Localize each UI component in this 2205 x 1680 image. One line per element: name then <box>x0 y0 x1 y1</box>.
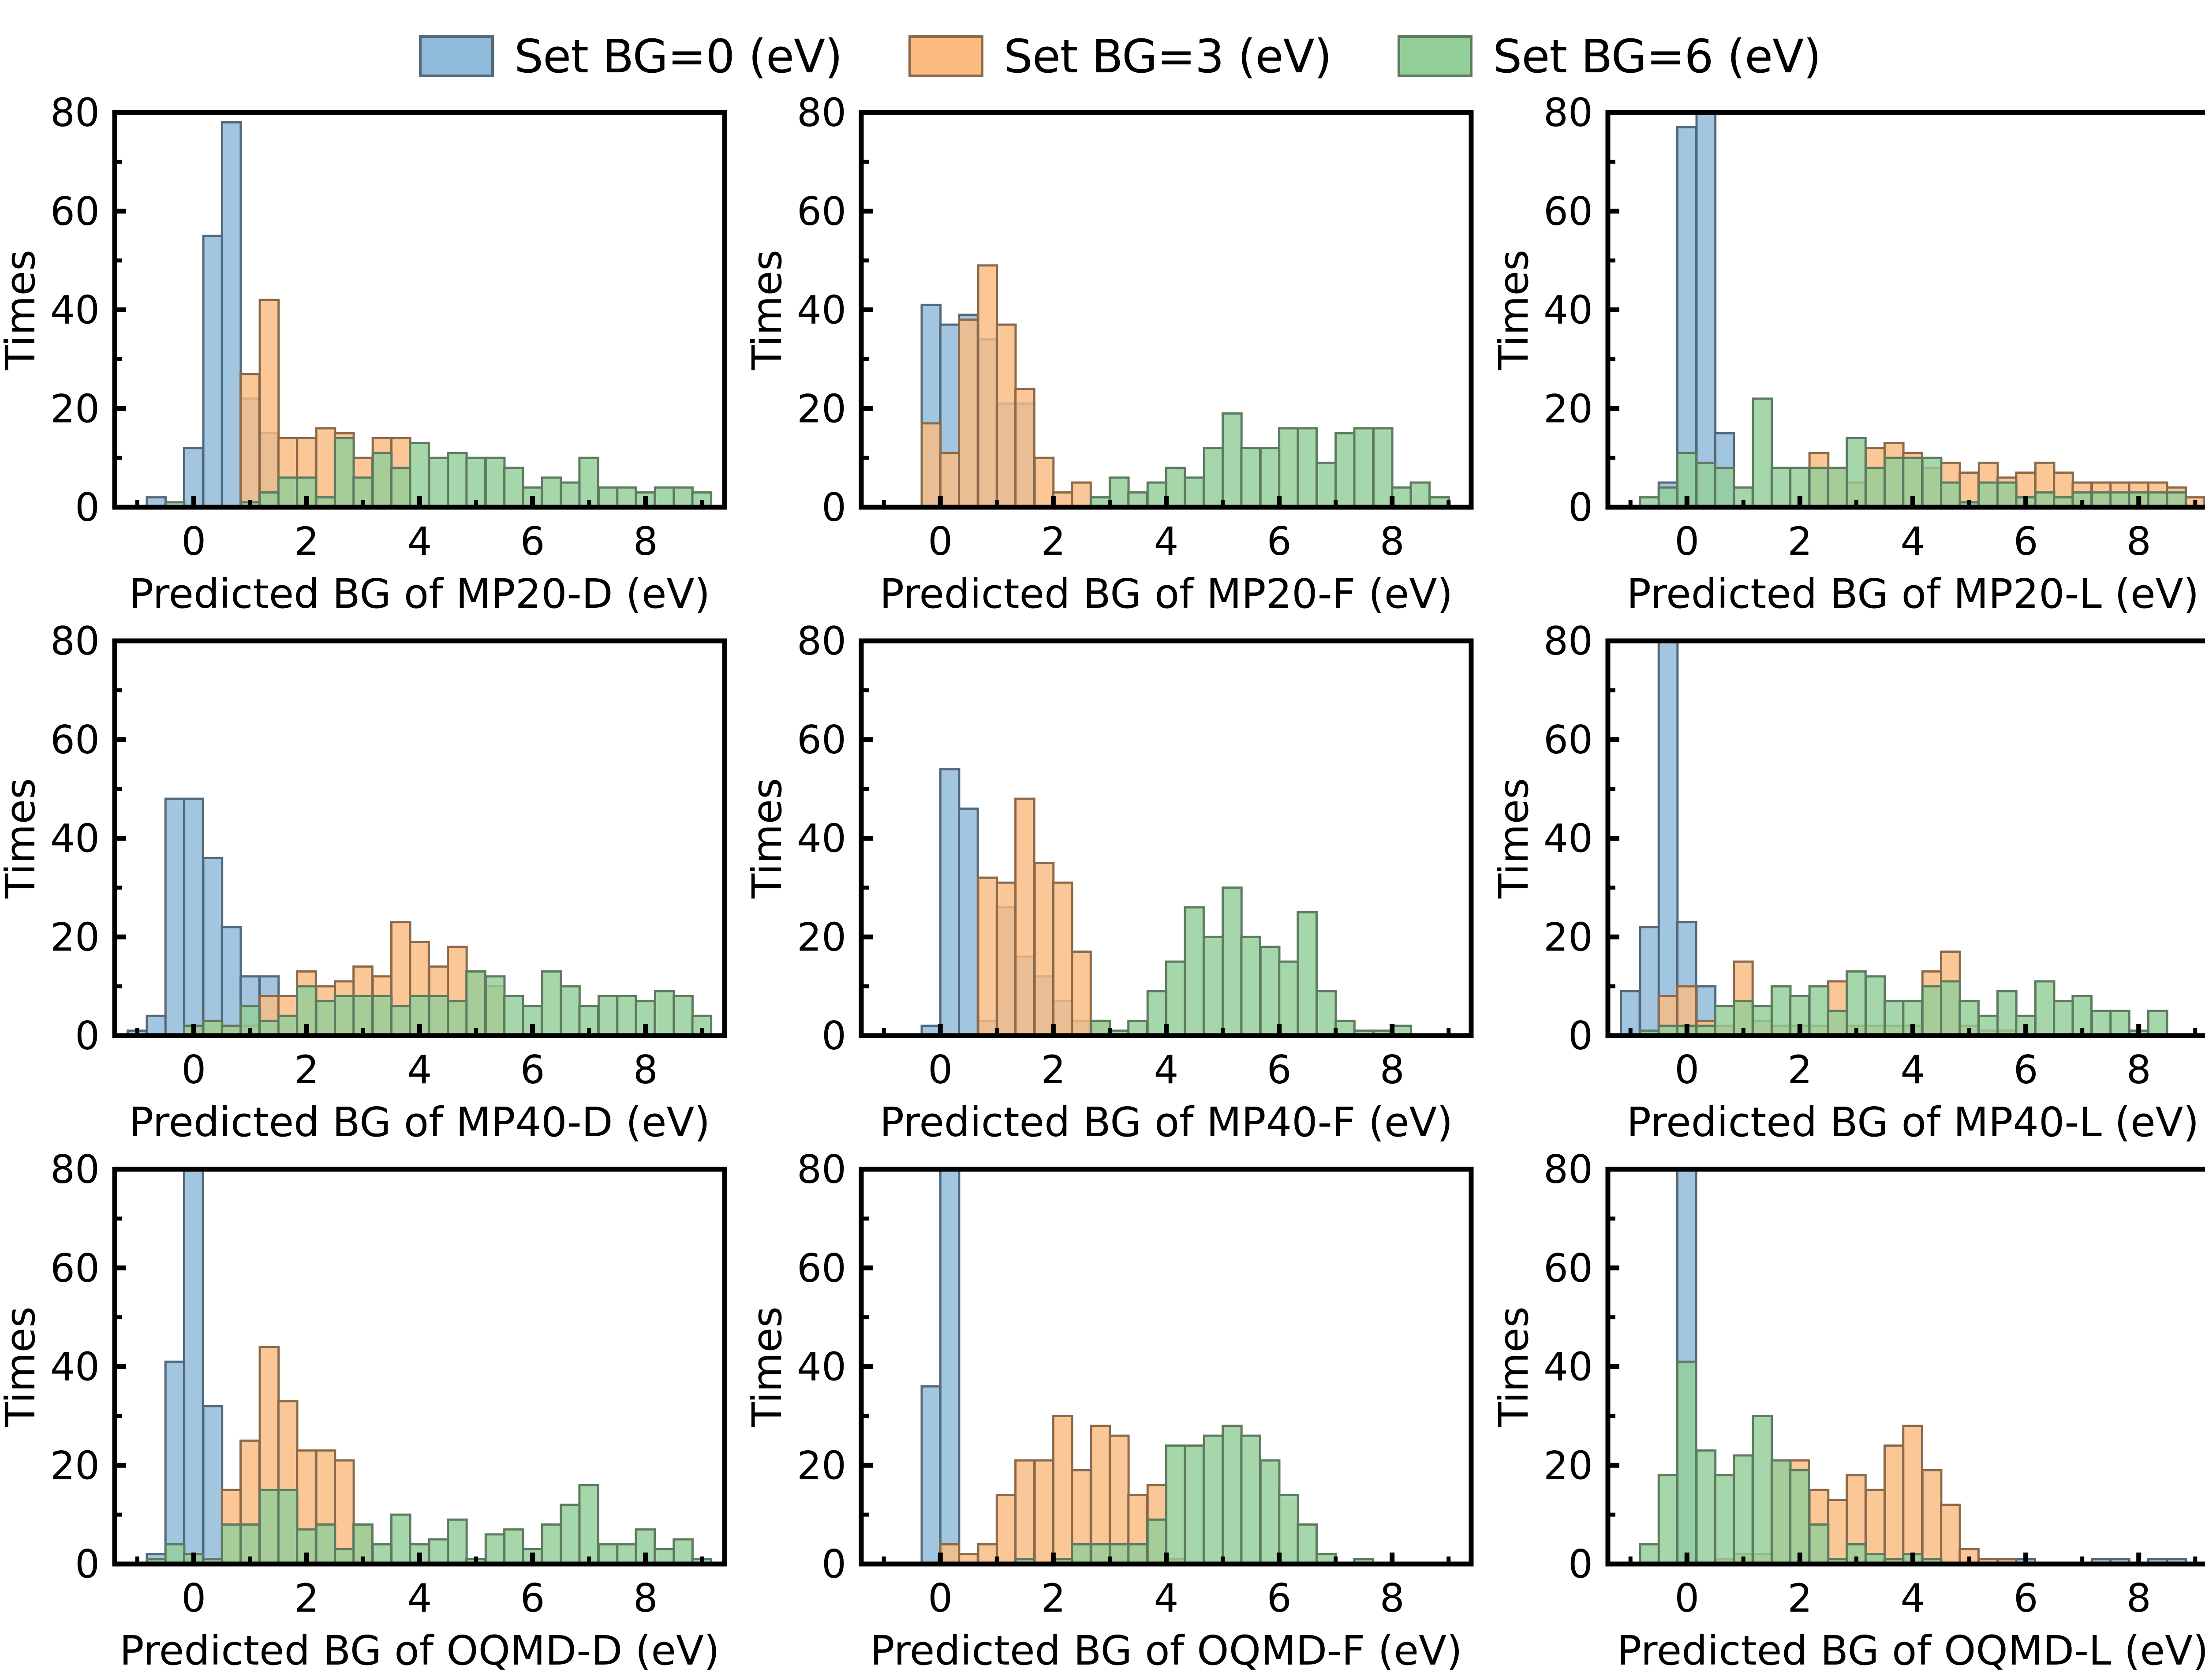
hist-bar <box>1828 468 1847 508</box>
hist-bar <box>505 468 523 508</box>
hist-bar <box>978 878 997 1036</box>
y-axis-label: Times <box>747 778 791 899</box>
y-tick-label: 40 <box>1543 1344 1593 1390</box>
x-axis-label: Predicted BG of MP40-F (eV) <box>880 1099 1453 1146</box>
hist-bar <box>203 1406 222 1564</box>
x-tick-label: 0 <box>181 519 206 564</box>
hist-bar <box>505 1530 523 1564</box>
x-tick-label: 6 <box>520 1575 545 1621</box>
hist-bar <box>2054 1001 2073 1036</box>
hist-bar <box>260 1490 279 1564</box>
x-tick-label: 4 <box>407 1575 432 1621</box>
y-axis-label: Times <box>0 250 44 370</box>
hist-bar <box>617 487 636 507</box>
y-tick-label: 60 <box>50 1246 100 1291</box>
hist-bar <box>1697 1451 1715 1564</box>
hist-bar <box>1866 468 1885 508</box>
hist-bar <box>316 1525 335 1564</box>
x-tick-label: 6 <box>1267 1575 1292 1621</box>
hist-bar <box>1922 1470 1941 1564</box>
hist-bar <box>429 1539 448 1564</box>
x-tick-label: 2 <box>294 1047 319 1093</box>
legend-label-1: Set BG=3 (eV) <box>1004 30 1332 83</box>
hist-bar <box>1317 991 1336 1036</box>
hist-bar <box>997 1495 1016 1564</box>
hist-bar <box>429 458 448 507</box>
hist-bar <box>1884 1001 1903 1036</box>
y-tick-label: 40 <box>50 288 100 333</box>
hist-bar <box>2035 981 2054 1036</box>
hist-bar <box>505 996 523 1036</box>
x-tick-label: 2 <box>1787 1047 1812 1093</box>
hist-bar <box>1678 127 1697 507</box>
hist-bar <box>184 1154 203 1564</box>
hist-bar <box>1166 962 1185 1036</box>
hist-bar <box>1828 1500 1847 1564</box>
hist-bar <box>959 320 978 507</box>
y-tick-label: 60 <box>1543 1246 1593 1291</box>
y-tick-label: 40 <box>50 816 100 861</box>
hist-bar <box>1016 799 1035 1036</box>
hist-bar <box>1298 428 1317 507</box>
y-tick-label: 0 <box>75 1542 100 1587</box>
y-tick-label: 60 <box>797 1246 846 1291</box>
hist-bar <box>1223 413 1242 507</box>
subplot-1: 02040608002468TimesPredicted BG of MP20-… <box>747 95 1493 623</box>
figure-root: Set BG=0 (eV)Set BG=3 (eV)Set BG=6 (eV) … <box>0 0 2205 1680</box>
hist-bar <box>1392 487 1411 507</box>
x-tick-label: 6 <box>520 519 545 564</box>
x-tick-label: 0 <box>1674 1575 1699 1621</box>
hist-bar <box>1016 1460 1035 1564</box>
x-axis-label: Predicted BG of OQMD-F (eV) <box>870 1627 1462 1674</box>
y-tick-label: 60 <box>50 189 100 234</box>
hist-bar <box>542 478 561 507</box>
hist-bar <box>448 453 467 507</box>
hist-bar <box>184 799 203 1036</box>
hist-bar <box>598 1544 617 1564</box>
hist-bar <box>1129 1544 1147 1564</box>
y-axis-label: Times <box>1493 1306 1537 1427</box>
legend-label-2: Set BG=6 (eV) <box>1493 30 1821 83</box>
hist-bar <box>1790 1470 1809 1564</box>
hist-bar <box>1279 428 1298 507</box>
hist-bar <box>1715 1475 1734 1564</box>
hist-bar <box>1317 463 1336 507</box>
hist-bar <box>316 1001 335 1036</box>
y-tick-label: 60 <box>797 717 846 763</box>
hist-bar <box>1260 448 1279 507</box>
hist-bar <box>674 487 693 507</box>
hist-bar <box>1072 483 1091 507</box>
hist-bar <box>1922 986 1941 1036</box>
hist-bar <box>1884 458 1903 507</box>
y-tick-label: 20 <box>50 914 100 960</box>
y-tick-label: 20 <box>50 386 100 431</box>
hist-bar <box>655 487 674 507</box>
hist-bar <box>1771 468 1790 508</box>
x-tick-label: 6 <box>520 1047 545 1093</box>
subplot-7: 02040608002468TimesPredicted BG of OQMD-… <box>747 1152 1493 1680</box>
x-tick-label: 4 <box>407 1047 432 1093</box>
hist-bar <box>1110 1544 1129 1564</box>
x-tick-label: 0 <box>181 1575 206 1621</box>
hist-bar <box>1053 1416 1072 1564</box>
hist-bar <box>978 1544 997 1564</box>
hist-bar <box>2111 1011 2130 1036</box>
hist-bar <box>1828 1011 1847 1036</box>
legend-swatch-orange <box>908 35 983 77</box>
x-tick-label: 6 <box>1267 519 1292 564</box>
hist-bar <box>2092 1011 2111 1036</box>
x-tick-label: 2 <box>1041 519 1065 564</box>
hist-bar <box>1241 1436 1260 1564</box>
hist-bar <box>1072 952 1091 1036</box>
y-tick-label: 40 <box>1543 816 1593 861</box>
legend: Set BG=0 (eV)Set BG=3 (eV)Set BG=6 (eV) <box>0 18 2205 95</box>
x-tick-label: 8 <box>2127 1047 2151 1093</box>
hist-bar <box>959 808 978 1036</box>
hist-bar <box>1166 468 1185 508</box>
y-tick-label: 40 <box>797 288 846 333</box>
x-tick-label: 0 <box>1674 1047 1699 1093</box>
y-tick-label: 20 <box>797 1443 846 1488</box>
x-tick-label: 6 <box>1267 1047 1292 1093</box>
hist-bar <box>1715 468 1734 508</box>
hist-bar <box>617 996 636 1036</box>
hist-bar <box>391 468 410 508</box>
hist-bar <box>1035 458 1054 507</box>
x-axis-label: Predicted BG of OQMD-L (eV) <box>1617 1627 2205 1674</box>
x-tick-label: 8 <box>633 1047 658 1093</box>
hist-bar <box>1035 1460 1054 1564</box>
subplot-grid: 02040608002468TimesPredicted BG of MP20-… <box>0 95 2205 1680</box>
y-tick-label: 40 <box>797 816 846 861</box>
legend-entry-2[interactable]: Set BG=6 (eV) <box>1398 30 1821 83</box>
hist-bar <box>1035 863 1054 1036</box>
hist-bar <box>561 1505 580 1564</box>
hist-bar <box>1336 433 1355 507</box>
hist-bar <box>1373 428 1392 507</box>
y-axis-label: Times <box>747 1306 791 1427</box>
x-tick-label: 8 <box>1380 519 1405 564</box>
x-tick-label: 2 <box>1041 1575 1065 1621</box>
x-tick-label: 2 <box>294 519 319 564</box>
hist-bar <box>922 423 941 507</box>
hist-bar <box>1753 1416 1772 1564</box>
hist-bar <box>448 1001 467 1036</box>
hist-bar <box>1941 1505 1960 1564</box>
y-tick-label: 80 <box>797 623 846 664</box>
y-tick-label: 80 <box>797 95 846 135</box>
y-tick-label: 20 <box>1543 386 1593 431</box>
subplot-0: 02040608002468TimesPredicted BG of MP20-… <box>0 95 747 623</box>
hist-bar <box>260 300 279 507</box>
hist-bar <box>222 1525 241 1564</box>
hist-bar <box>1753 1006 1772 1036</box>
hist-bar <box>1941 483 1960 507</box>
y-tick-label: 0 <box>822 1542 846 1587</box>
hist-bar <box>1185 907 1204 1036</box>
hist-bar <box>1223 1426 1242 1564</box>
y-axis-label: Times <box>0 778 44 899</box>
y-tick-label: 60 <box>797 189 846 234</box>
y-tick-label: 80 <box>1543 1152 1593 1192</box>
hist-bar <box>429 996 448 1036</box>
y-tick-label: 80 <box>50 95 100 135</box>
hist-bar <box>1204 937 1223 1036</box>
x-tick-label: 4 <box>1901 1047 1925 1093</box>
y-tick-label: 20 <box>797 386 846 431</box>
hist-bar <box>391 1006 410 1036</box>
hist-bar <box>1866 977 1885 1036</box>
x-tick-label: 8 <box>633 1575 658 1621</box>
subplot-4: 02040608002468TimesPredicted BG of MP40-… <box>747 623 1493 1152</box>
hist-bar <box>1147 483 1166 507</box>
y-tick-label: 80 <box>797 1152 846 1192</box>
hist-bar <box>561 986 580 1036</box>
hist-bar <box>373 1544 392 1564</box>
y-tick-label: 60 <box>1543 189 1593 234</box>
hist-bar <box>1147 1519 1166 1564</box>
hist-bar <box>1753 399 1772 507</box>
hist-bar <box>1809 986 1828 1036</box>
hist-bar <box>940 769 959 1036</box>
x-tick-label: 4 <box>1154 519 1179 564</box>
y-axis-label: Times <box>1493 778 1537 899</box>
hist-bar <box>486 458 505 507</box>
y-tick-label: 0 <box>1568 1542 1593 1587</box>
hist-bar <box>1979 483 1998 507</box>
hist-bar <box>391 1515 410 1564</box>
hist-bar <box>617 1544 636 1564</box>
x-tick-label: 6 <box>2014 519 2038 564</box>
x-tick-label: 8 <box>1380 1575 1405 1621</box>
hist-bar <box>222 122 241 507</box>
x-tick-label: 8 <box>2127 1575 2151 1621</box>
x-tick-label: 6 <box>2014 1047 2038 1093</box>
hist-bar <box>467 972 486 1036</box>
y-axis-label: Times <box>747 250 791 370</box>
hist-bar <box>373 453 392 507</box>
hist-bar <box>674 996 693 1036</box>
y-axis-label: Times <box>0 1306 44 1427</box>
hist-bar <box>1659 487 1678 507</box>
hist-bar <box>1185 1446 1204 1564</box>
legend-entry-0[interactable]: Set BG=0 (eV) <box>419 30 842 83</box>
hist-bar <box>1847 438 1866 507</box>
hist-bar <box>655 991 674 1036</box>
hist-bar <box>940 453 959 507</box>
hist-bar <box>1260 1460 1279 1564</box>
y-tick-label: 0 <box>822 1013 846 1059</box>
hist-bar <box>1697 463 1715 507</box>
hist-bar <box>997 325 1016 507</box>
hist-bar <box>598 487 617 507</box>
hist-bar <box>542 1525 561 1564</box>
y-tick-label: 0 <box>75 1013 100 1059</box>
hist-bar <box>1771 986 1790 1036</box>
hist-bar <box>940 1544 959 1564</box>
x-tick-label: 0 <box>1674 519 1699 564</box>
y-tick-label: 20 <box>1543 914 1593 960</box>
hist-bar <box>241 374 260 507</box>
hist-bar <box>1998 483 2017 507</box>
x-tick-label: 0 <box>181 1047 206 1093</box>
hist-bar <box>1640 927 1659 1036</box>
hist-bar <box>1884 1446 1903 1564</box>
hist-bar <box>1185 478 1204 507</box>
hist-bar <box>1223 887 1242 1036</box>
hist-bar <box>1354 428 1373 507</box>
hist-bar <box>1847 972 1866 1036</box>
hist-bar <box>316 428 335 507</box>
hist-bar <box>147 1016 166 1036</box>
x-tick-label: 0 <box>928 519 953 564</box>
y-tick-label: 40 <box>50 1344 100 1390</box>
hist-bar <box>1734 1456 1753 1564</box>
hist-bar <box>203 236 222 507</box>
hist-bar <box>1072 1544 1091 1564</box>
y-tick-label: 0 <box>822 485 846 530</box>
hist-bar <box>2148 1011 2167 1036</box>
legend-entry-1[interactable]: Set BG=3 (eV) <box>908 30 1332 83</box>
subplot-2: 02040608002468TimesPredicted BG of MP20-… <box>1493 95 2205 623</box>
hist-bar <box>165 1362 184 1564</box>
hist-bar <box>1809 1525 1828 1564</box>
hist-bar <box>203 858 222 1036</box>
hist-bar <box>997 883 1016 1036</box>
x-tick-label: 0 <box>928 1575 953 1621</box>
subplot-8: 02040608002468TimesPredicted BG of OQMD-… <box>1493 1152 2205 1680</box>
hist-bar <box>1260 947 1279 1036</box>
hist-bar <box>598 996 617 1036</box>
y-tick-label: 0 <box>75 485 100 530</box>
hist-bar <box>1697 97 1715 507</box>
hist-bar <box>1903 1426 1922 1564</box>
hist-bar <box>1091 1544 1110 1564</box>
x-tick-label: 2 <box>1787 1575 1812 1621</box>
hist-bar <box>1204 448 1223 507</box>
y-tick-label: 20 <box>797 914 846 960</box>
hist-bar <box>278 1490 297 1564</box>
hist-bar <box>165 1544 184 1564</box>
subplot-3: 02040608002468TimesPredicted BG of MP40-… <box>0 623 747 1152</box>
x-tick-label: 6 <box>2014 1575 2038 1621</box>
hist-bar <box>922 1386 941 1564</box>
hist-bar <box>335 438 354 507</box>
hist-bar <box>1640 1544 1659 1564</box>
x-axis-label: Predicted BG of MP40-D (eV) <box>129 1099 710 1146</box>
hist-bar <box>1279 962 1298 1036</box>
hist-bar <box>1941 981 1960 1036</box>
hist-bar <box>486 977 505 1036</box>
hist-bar <box>222 927 241 1036</box>
legend-swatch-green <box>1398 35 1472 77</box>
x-tick-label: 2 <box>294 1575 319 1621</box>
x-axis-label: Predicted BG of MP20-F (eV) <box>880 570 1453 617</box>
hist-bar <box>1866 1490 1885 1564</box>
hist-bar <box>165 799 184 1036</box>
hist-bar <box>1922 458 1941 507</box>
hist-bar <box>1298 1525 1317 1564</box>
hist-bar <box>1678 1362 1697 1564</box>
y-tick-label: 40 <box>797 1344 846 1390</box>
hist-bar <box>1979 1016 1998 1036</box>
hist-bar <box>1998 991 2017 1036</box>
hist-bar <box>1241 937 1260 1036</box>
hist-bar <box>561 483 580 507</box>
x-tick-label: 0 <box>928 1047 953 1093</box>
hist-bar <box>1771 1460 1790 1564</box>
hist-bar <box>1659 1475 1678 1564</box>
subplot-6: 02040608002468TimesPredicted BG of OQMD-… <box>0 1152 747 1680</box>
legend-label-0: Set BG=0 (eV) <box>514 30 842 83</box>
x-tick-label: 2 <box>1787 519 1812 564</box>
subplot-5: 02040608002468TimesPredicted BG of MP40-… <box>1493 623 2205 1152</box>
hist-bar <box>373 996 392 1036</box>
hist-bar <box>448 1519 467 1564</box>
x-axis-label: Predicted BG of MP40-L (eV) <box>1626 1099 2199 1146</box>
hist-bar <box>278 1016 297 1036</box>
hist-bar <box>278 478 297 507</box>
hist-bar <box>940 1154 959 1564</box>
y-tick-label: 80 <box>50 623 100 664</box>
y-tick-label: 80 <box>1543 623 1593 664</box>
y-tick-label: 20 <box>50 1443 100 1488</box>
y-tick-label: 60 <box>50 717 100 763</box>
hist-bar <box>1166 1446 1185 1564</box>
legend-swatch-blue <box>419 35 494 77</box>
hist-bar <box>542 972 561 1036</box>
y-tick-label: 80 <box>50 1152 100 1192</box>
hist-bar <box>1110 478 1129 507</box>
hist-bar <box>1204 1436 1223 1564</box>
hist-bar <box>1715 1006 1734 1036</box>
x-tick-label: 8 <box>633 519 658 564</box>
hist-bar <box>978 266 997 507</box>
x-axis-label: Predicted BG of MP20-L (eV) <box>1626 570 2199 617</box>
x-tick-label: 4 <box>1154 1047 1179 1093</box>
x-axis-label: Predicted BG of MP20-D (eV) <box>129 570 710 617</box>
x-tick-label: 2 <box>1041 1047 1065 1093</box>
hist-bar <box>1147 991 1166 1036</box>
hist-bar <box>335 996 354 1036</box>
hist-bar <box>1411 483 1430 507</box>
y-tick-label: 0 <box>1568 1013 1593 1059</box>
hist-bar <box>1016 389 1035 508</box>
hist-bar <box>1659 626 1678 1036</box>
x-tick-label: 8 <box>2127 519 2151 564</box>
y-axis-label: Times <box>1493 250 1537 370</box>
x-tick-label: 4 <box>1154 1575 1179 1621</box>
y-tick-label: 0 <box>1568 485 1593 530</box>
y-tick-label: 60 <box>1543 717 1593 763</box>
hist-bar <box>579 1485 598 1564</box>
hist-bar <box>674 1539 693 1564</box>
x-axis-label: Predicted BG of OQMD-D (eV) <box>120 1627 720 1674</box>
hist-bar <box>1241 448 1260 507</box>
x-tick-label: 4 <box>407 519 432 564</box>
y-tick-label: 80 <box>1543 95 1593 135</box>
hist-bar <box>1809 468 1828 508</box>
y-tick-label: 20 <box>1543 1443 1593 1488</box>
y-tick-label: 40 <box>1543 288 1593 333</box>
x-tick-label: 8 <box>1380 1047 1405 1093</box>
hist-bar <box>1298 912 1317 1036</box>
x-tick-label: 4 <box>1901 519 1925 564</box>
hist-bar <box>486 1534 505 1564</box>
